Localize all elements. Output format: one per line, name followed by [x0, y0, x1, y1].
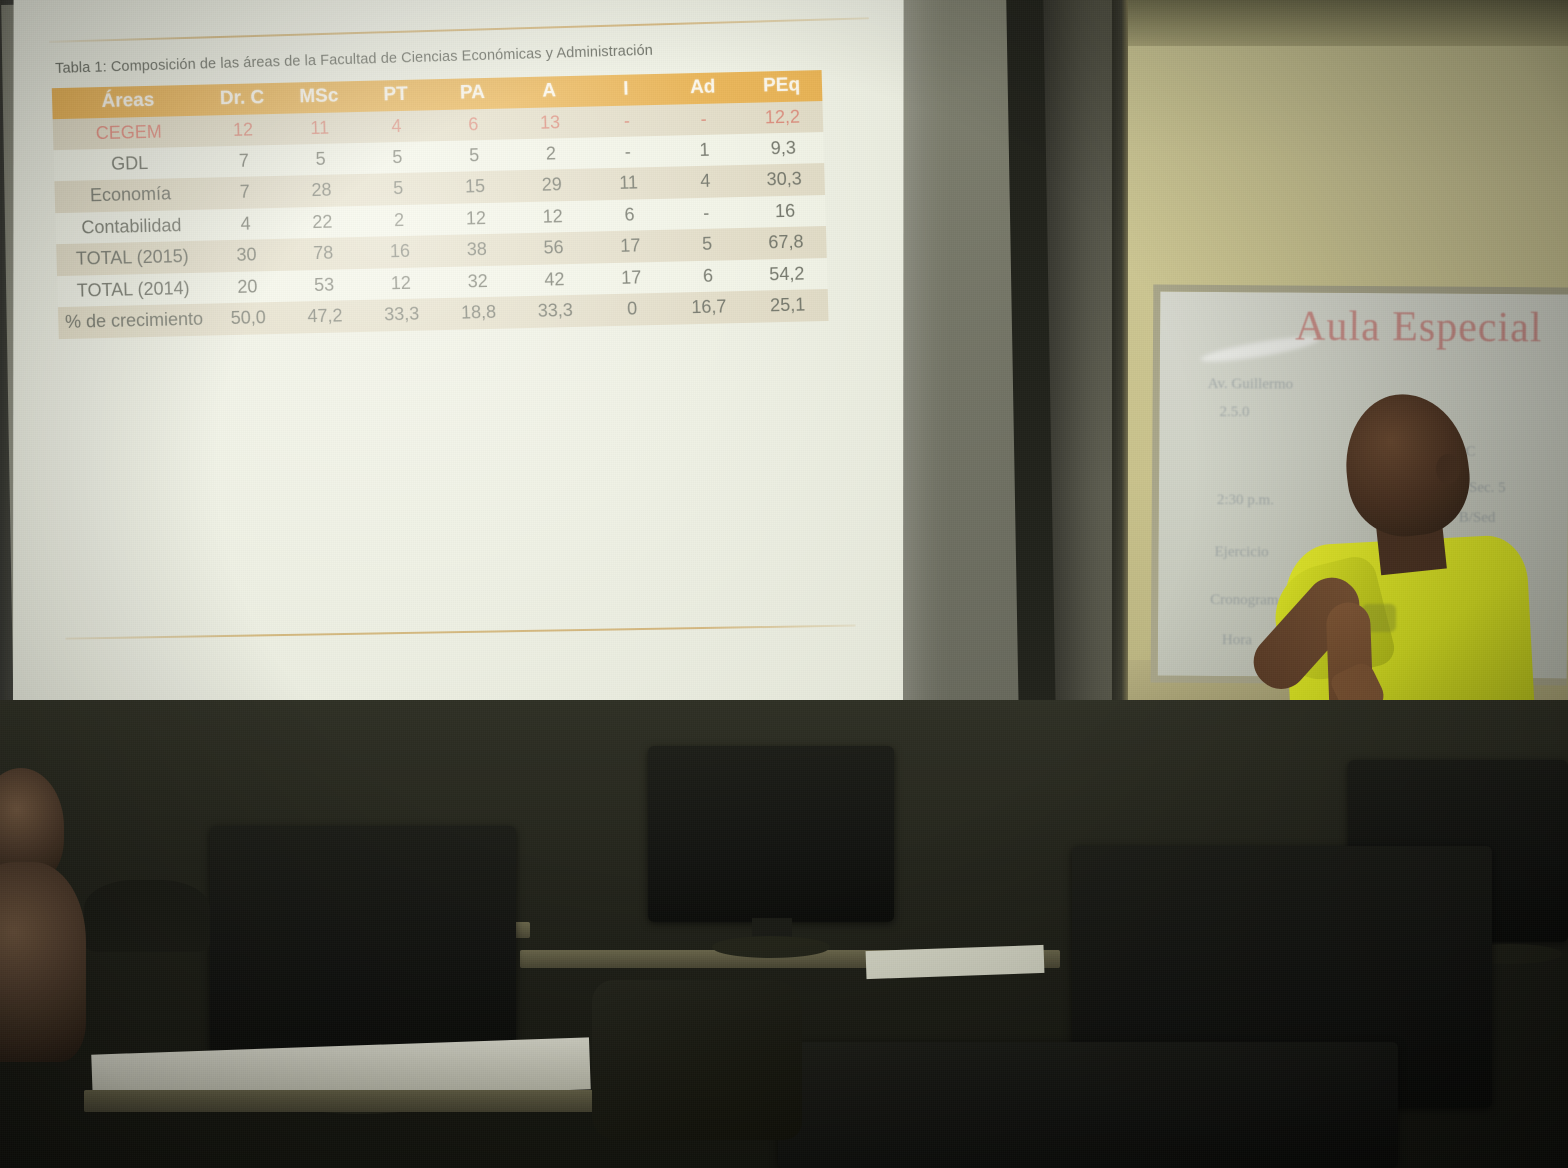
projected-slide: Tabla 1: Composición de las áreas de la … — [13, 0, 904, 731]
table-cell-value: 16 — [744, 195, 826, 228]
table-cell-value: 20 — [209, 270, 287, 303]
table-cell-value: 5 — [435, 139, 513, 172]
table-cell-value: 30,3 — [743, 163, 825, 196]
th-drc: Dr. C — [203, 83, 281, 115]
table-cell-value: - — [665, 102, 743, 135]
table-cell-value: 13 — [511, 106, 589, 139]
table-cell-value: 29 — [513, 169, 591, 202]
monitor — [210, 826, 516, 1070]
th-areas: Áreas — [52, 85, 204, 119]
table-cell-value: 12 — [362, 267, 440, 300]
table-cell-value: - — [667, 197, 745, 230]
table-cell-value: 6 — [669, 260, 747, 293]
monitor — [778, 1042, 1398, 1168]
table-cell-value: 47,2 — [286, 300, 364, 333]
table-cell-value: 5 — [359, 173, 437, 206]
table-cell-value: 6 — [434, 108, 512, 141]
table-cell-value: 33,3 — [363, 298, 441, 331]
monitor-base — [712, 936, 830, 958]
th-peq: PEq — [741, 70, 823, 102]
table-cell-value: 18,8 — [440, 296, 518, 329]
table-cell-area: GDL — [54, 147, 206, 182]
classroom-photo-scene: Tabla 1: Composición de las áreas de la … — [0, 0, 1568, 1168]
table-cell-value: 5 — [668, 228, 746, 261]
table-cell-value: 38 — [438, 234, 516, 267]
table-cell-area: % de crecimiento — [58, 304, 210, 339]
slide-content: Tabla 1: Composición de las áreas de la … — [13, 0, 904, 731]
monitor — [648, 746, 894, 922]
chair — [84, 880, 210, 952]
table-cell-value: 7 — [205, 145, 283, 178]
slide-table-wrapper: Áreas Dr. C MSc PT PA A I Ad PEq — [52, 70, 829, 339]
whiteboard-title: Aula Especial — [1295, 303, 1543, 353]
table-cell-value: 53 — [285, 269, 363, 302]
th-pt: PT — [357, 79, 435, 111]
table-cell-value: 12 — [514, 200, 592, 233]
attendee-body — [0, 862, 86, 1062]
table-body: CEGEM12114613--12,2GDL75552-19,3Economía… — [53, 101, 829, 339]
table-cell-value: 28 — [283, 174, 361, 207]
table-cell-value: 33,3 — [517, 295, 595, 328]
table-cell-value: 2 — [512, 138, 590, 171]
slide-bottom-rule — [66, 625, 856, 640]
th-msc: MSc — [280, 81, 358, 113]
table-cell-value: 12,2 — [742, 101, 824, 134]
th-i: I — [587, 74, 665, 106]
table-cell-value: 17 — [592, 230, 670, 263]
table-cell-value: 56 — [515, 232, 593, 265]
table-cell-value: 4 — [667, 165, 745, 198]
table-cell-value: 9,3 — [742, 132, 824, 165]
table-cell-value: 11 — [590, 167, 668, 200]
table-cell-value: 4 — [207, 208, 285, 241]
table-cell-area: TOTAL (2015) — [56, 241, 208, 276]
th-ad: Ad — [664, 72, 742, 104]
backpack — [592, 980, 802, 1140]
table-cell-value: 25,1 — [747, 289, 829, 322]
table-cell-value: 30 — [208, 239, 286, 272]
table-cell-area: Contabilidad — [55, 209, 207, 244]
table-cell-value: 12 — [437, 202, 515, 235]
table-cell-value: 11 — [281, 112, 359, 145]
table-cell-area: CEGEM — [53, 115, 205, 150]
table-cell-area: TOTAL (2014) — [57, 272, 209, 307]
table-cell-value: 1 — [666, 134, 744, 167]
table-cell-value: - — [588, 104, 666, 137]
table-cell-value: 22 — [284, 206, 362, 239]
table-cell-value: 67,8 — [745, 226, 827, 259]
presenter-ear — [1436, 454, 1460, 484]
table-cell-value: 42 — [516, 263, 594, 296]
table-cell-value: 6 — [591, 199, 669, 232]
table-cell-value: 5 — [282, 143, 360, 176]
th-a: A — [510, 76, 588, 108]
table-cell-value: 4 — [358, 110, 436, 143]
ceiling-strip — [1118, 0, 1568, 46]
table-cell-value: 50,0 — [209, 302, 287, 335]
table-cell-value: 12 — [204, 113, 282, 146]
table-cell-value: 5 — [359, 141, 437, 174]
table-cell-value: 16 — [361, 235, 439, 268]
table-cell-value: 16,7 — [670, 291, 748, 324]
table-cell-value: 7 — [206, 176, 284, 209]
table-caption: Tabla 1: Composición de las áreas de la … — [55, 37, 835, 77]
table-cell-value: 32 — [439, 265, 517, 298]
table-cell-value: 54,2 — [746, 258, 828, 291]
table-cell-value: 78 — [284, 237, 362, 270]
composition-table: Áreas Dr. C MSc PT PA A I Ad PEq — [52, 70, 829, 339]
desk-edge — [84, 1090, 604, 1112]
projection-screen-frame: Tabla 1: Composición de las áreas de la … — [0, 0, 1057, 805]
th-pa: PA — [434, 77, 512, 109]
table-cell-value: 0 — [593, 293, 671, 326]
table-cell-value: 15 — [436, 171, 514, 204]
table-cell-value: 2 — [360, 204, 438, 237]
table-cell-value: 17 — [592, 261, 670, 294]
table-cell-area: Economía — [54, 178, 206, 213]
table-cell-value: - — [589, 136, 667, 169]
